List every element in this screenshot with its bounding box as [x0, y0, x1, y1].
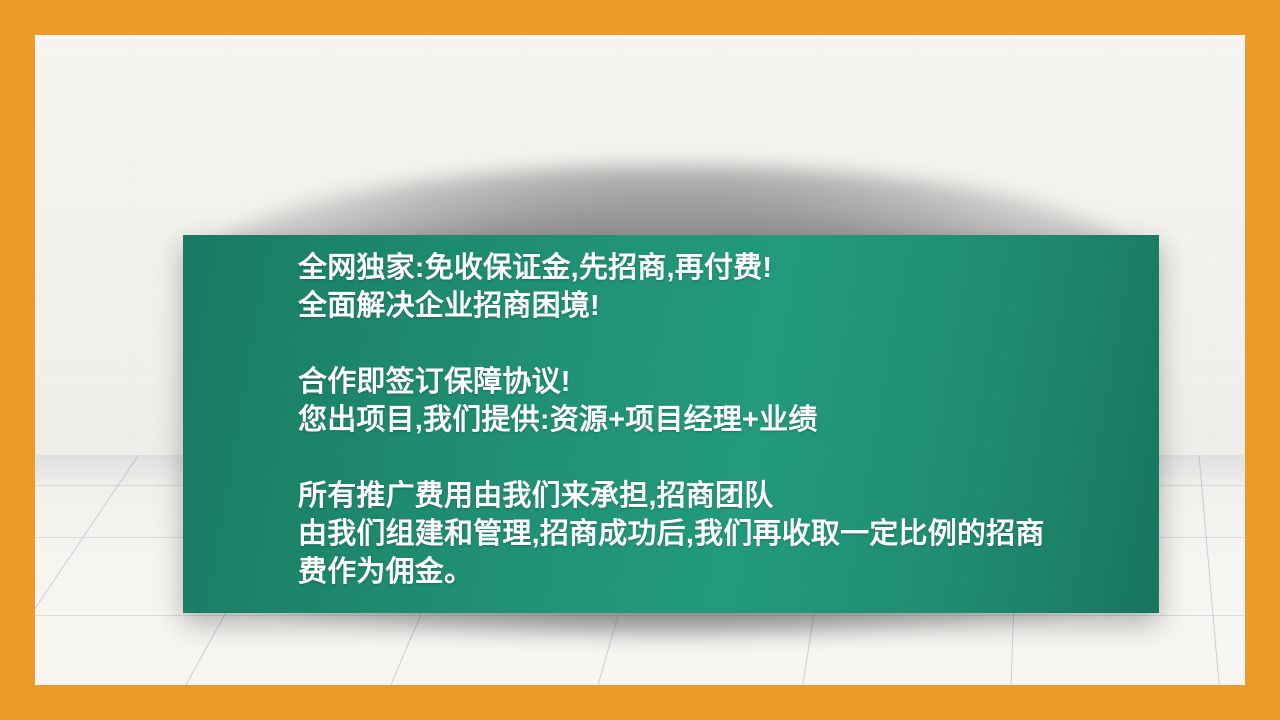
- promo-line: 合作即签订保障协议!: [298, 363, 1147, 401]
- promo-line: 费作为佣金。: [298, 553, 1147, 591]
- promo-block-2: 合作即签订保障协议! 您出项目,我们提供:资源+项目经理+业绩: [298, 363, 1147, 439]
- promo-line: 所有推广费用由我们来承担,招商团队: [298, 477, 1147, 515]
- promo-spacer: [298, 325, 1147, 363]
- promo-text-container: 全网独家:免收保证金,先招商,再付费! 全面解决企业招商困境! 合作即签订保障协…: [298, 249, 1147, 591]
- room-stage: 全网独家:免收保证金,先招商,再付费! 全面解决企业招商困境! 合作即签订保障协…: [35, 35, 1245, 685]
- promo-panel: 全网独家:免收保证金,先招商,再付费! 全面解决企业招商困境! 合作即签订保障协…: [183, 235, 1159, 613]
- slide-canvas: 全网独家:免收保证金,先招商,再付费! 全面解决企业招商困境! 合作即签订保障协…: [0, 0, 1280, 720]
- floor-perspective-line: [1195, 455, 1225, 685]
- promo-block-1: 全网独家:免收保证金,先招商,再付费! 全面解决企业招商困境!: [298, 249, 1147, 325]
- promo-line: 您出项目,我们提供:资源+项目经理+业绩: [298, 401, 1147, 439]
- promo-line: 由我们组建和管理,招商成功后,我们再收取一定比例的招商: [298, 515, 1147, 553]
- promo-line: 全网独家:免收保证金,先招商,再付费!: [298, 249, 1147, 287]
- promo-block-3: 所有推广费用由我们来承担,招商团队 由我们组建和管理,招商成功后,我们再收取一定…: [298, 477, 1147, 591]
- promo-line: 全面解决企业招商困境!: [298, 287, 1147, 325]
- promo-spacer: [298, 439, 1147, 477]
- floor-perspective-line: [35, 455, 166, 685]
